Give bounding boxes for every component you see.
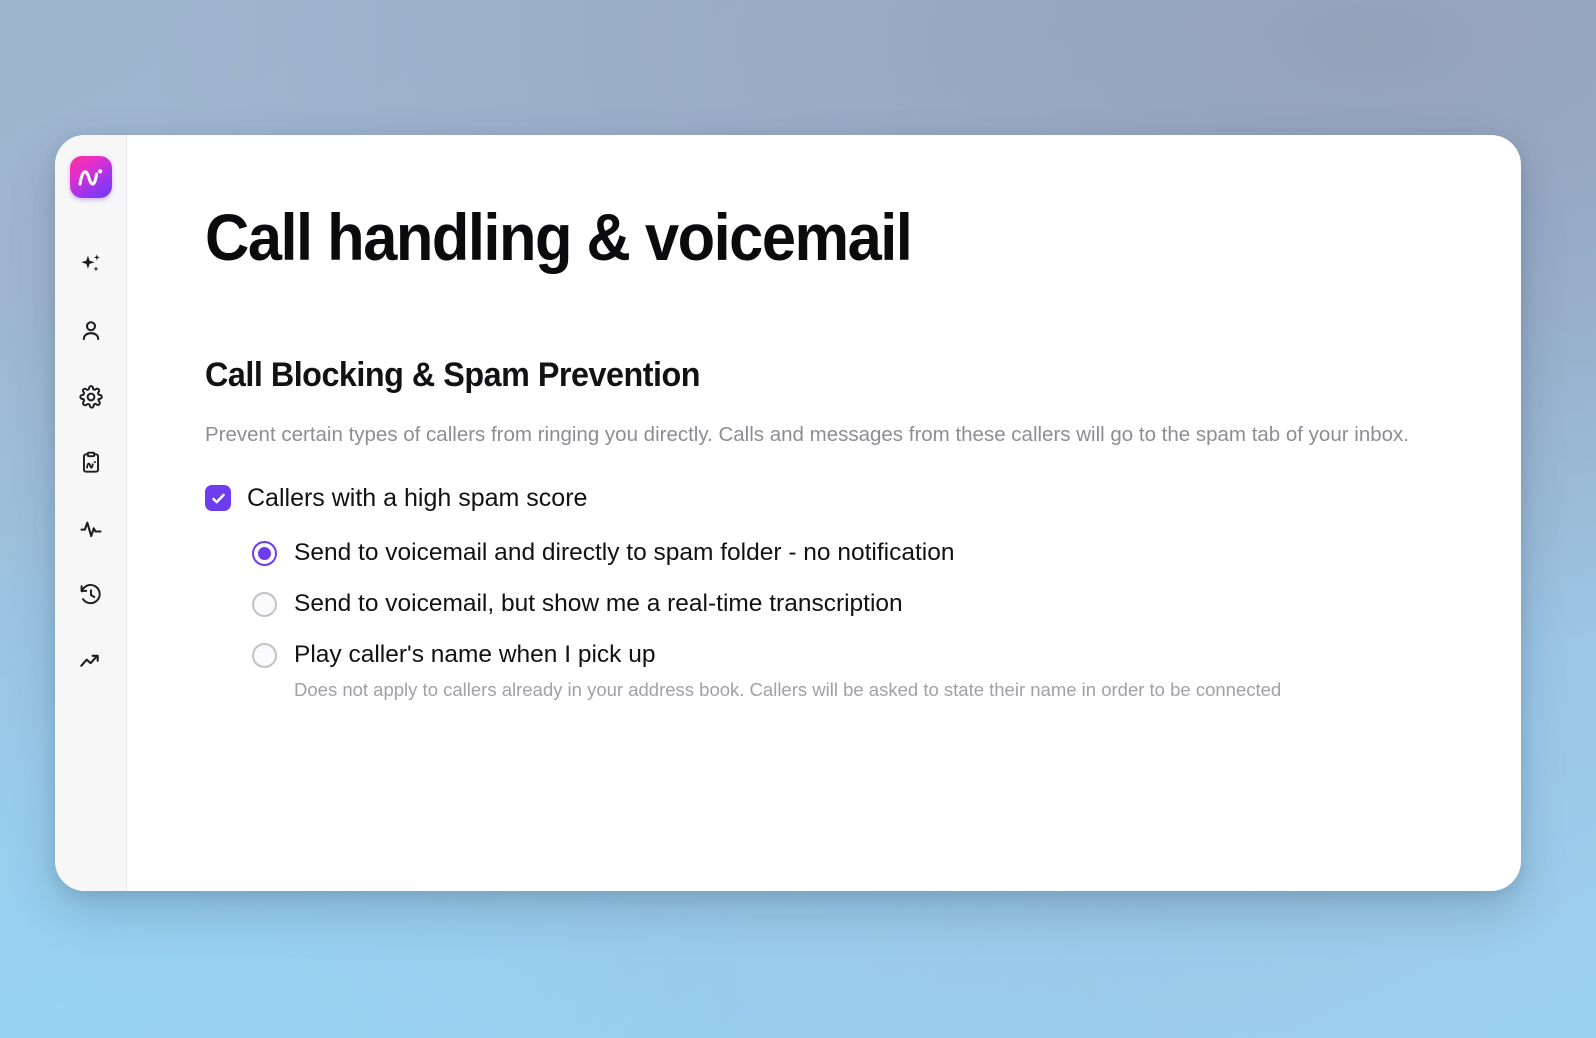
radio-row-realtime-transcription[interactable]: Send to voicemail, but show me a real-ti…: [252, 589, 1465, 619]
person-icon: [78, 318, 104, 344]
radio-send-to-spam-folder[interactable]: [252, 541, 277, 566]
high-spam-score-label: Callers with a high spam score: [247, 485, 587, 513]
call-blocking-section: Call Blocking & Spam Prevention Prevent …: [205, 356, 1465, 703]
trending-up-icon: [78, 648, 104, 674]
sidebar: [55, 135, 127, 891]
radio-text-block: Send to voicemail and directly to spam f…: [294, 538, 954, 568]
app-window: Call handling & voicemail Call Blocking …: [55, 135, 1521, 891]
sidebar-nav-list: [55, 250, 126, 676]
high-spam-score-checkbox[interactable]: [205, 485, 231, 511]
gear-icon: [78, 384, 104, 410]
activity-pulse-icon: [78, 516, 104, 542]
page-title: Call handling & voicemail: [205, 203, 1377, 272]
sidebar-item-activity[interactable]: [71, 514, 111, 544]
radio-row-send-to-spam-folder[interactable]: Send to voicemail and directly to spam f…: [252, 538, 1465, 568]
section-description: Prevent certain types of callers from ri…: [205, 418, 1450, 452]
radio-help-text: Does not apply to callers already in you…: [294, 677, 1281, 703]
spam-action-radio-group: Send to voicemail and directly to spam f…: [205, 538, 1465, 703]
sidebar-item-contacts[interactable]: [71, 316, 111, 346]
section-heading: Call Blocking & Spam Prevention: [205, 356, 1402, 395]
radio-realtime-transcription[interactable]: [252, 592, 277, 617]
sidebar-item-assistant[interactable]: [71, 250, 111, 280]
sidebar-item-notes[interactable]: [71, 448, 111, 478]
history-clock-icon: [78, 582, 104, 608]
main-content: Call handling & voicemail Call Blocking …: [127, 135, 1521, 891]
clipboard-ai-icon: [78, 450, 104, 476]
radio-play-caller-name[interactable]: [252, 643, 277, 668]
high-spam-score-checkbox-row[interactable]: Callers with a high spam score: [205, 485, 1465, 513]
sidebar-item-analytics[interactable]: [71, 646, 111, 676]
sparkles-icon: [78, 252, 104, 278]
sidebar-item-history[interactable]: [71, 580, 111, 610]
radio-label: Send to voicemail, but show me a real-ti…: [294, 589, 903, 619]
radio-row-play-caller-name[interactable]: Play caller's name when I pick up Does n…: [252, 640, 1465, 703]
radio-label: Play caller's name when I pick up: [294, 640, 1281, 670]
radio-text-block: Send to voicemail, but show me a real-ti…: [294, 589, 903, 619]
ai-logo-icon[interactable]: [70, 156, 112, 198]
sidebar-item-settings[interactable]: [71, 382, 111, 412]
radio-text-block: Play caller's name when I pick up Does n…: [294, 640, 1281, 703]
check-icon: [210, 490, 227, 507]
radio-label: Send to voicemail and directly to spam f…: [294, 538, 954, 568]
